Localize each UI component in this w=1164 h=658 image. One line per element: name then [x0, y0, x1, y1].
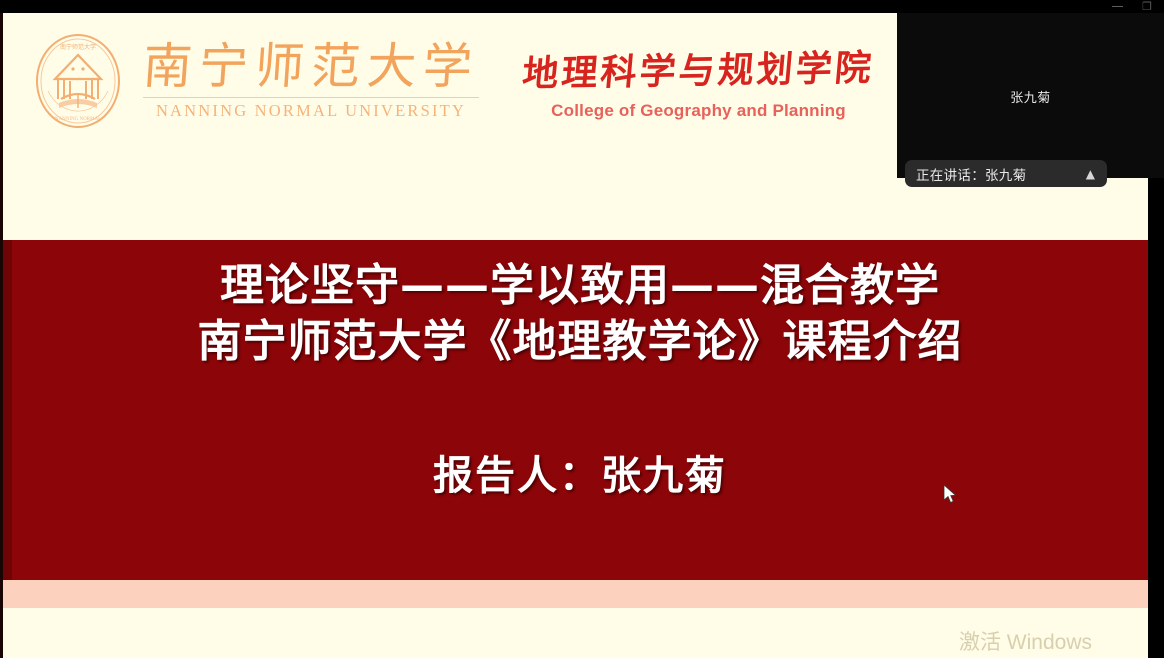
slide-title-line-2: 南宁师范大学《地理教学论》课程介绍 [52, 314, 1108, 370]
svg-text:南宁师范大学: 南宁师范大学 [60, 43, 96, 51]
windows-activation-watermark: 激活 Windows [959, 630, 1092, 656]
slide-presenter: 报告人：张九菊 [52, 443, 1108, 501]
restore-icon[interactable]: ❐ [1132, 0, 1162, 13]
chevron-up-icon[interactable]: ▲ [1086, 168, 1095, 180]
restore-glyph: ❐ [1142, 1, 1152, 12]
window-controls: ❐ [1102, 0, 1162, 13]
university-name-block: 南宁师范大学 NANNING NORMAL UNIVERSITY [143, 41, 479, 120]
video-participant-tile[interactable]: 张九菊 正在讲话：张九菊 ▲ [897, 13, 1164, 178]
window-title-bar [0, 0, 1164, 13]
university-name-en: NANNING NORMAL UNIVERSITY [143, 97, 479, 121]
slide-title-line-1: 理论坚守——学以致用——混合教学 [52, 258, 1108, 314]
college-name-block: 地理科学与规划学院 College of Geography and Plann… [523, 42, 874, 121]
screen-share-view: NANNING NORMAL 南宁师范大学 南宁师范大学 NANNING NOR… [0, 0, 1164, 658]
college-name-cn: 地理科学与规划学院 [520, 38, 876, 96]
watermark-line-1: 激活 Windows [959, 630, 1092, 656]
window-left-edge [0, 0, 3, 658]
slide-title-band: 理论坚守——学以致用——混合教学 南宁师范大学《地理教学论》课程介绍 报告人：张… [3, 240, 1148, 580]
active-speaker-bar[interactable]: 正在讲话：张九菊 ▲ [905, 160, 1107, 187]
slide-title-block: 理论坚守——学以致用——混合教学 南宁师范大学《地理教学论》课程介绍 报告人：张… [12, 258, 1148, 501]
svg-text:NANNING NORMAL: NANNING NORMAL [55, 117, 101, 122]
university-seal-icon: NANNING NORMAL 南宁师范大学 [33, 31, 123, 131]
university-name-cn: 南宁师范大学 [141, 41, 481, 92]
slide-footer: 激活 Windows [3, 608, 1148, 658]
video-participant-name: 张九菊 [897, 87, 1164, 106]
active-speaker-label: 正在讲话：张九菊 [916, 164, 1026, 184]
minimize-icon[interactable] [1102, 0, 1132, 13]
institution-logo-row: NANNING NORMAL 南宁师范大学 南宁师范大学 NANNING NOR… [33, 31, 874, 131]
college-name-en: College of Geography and Planning [551, 101, 846, 121]
slide-accent-stripe [3, 580, 1148, 608]
